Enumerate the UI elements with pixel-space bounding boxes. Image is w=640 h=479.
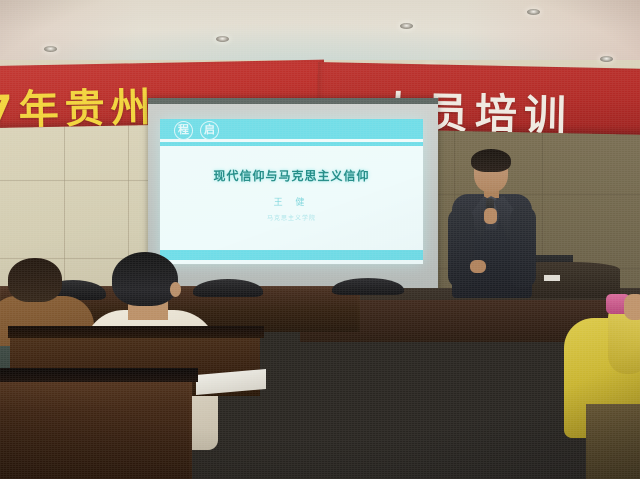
presenter-hand-lower xyxy=(470,260,486,273)
banner-text-left: 7年贵州 xyxy=(0,75,157,128)
slide-title: 现代信仰与马克思主义信仰 xyxy=(160,167,423,184)
wooden-desk-edge xyxy=(8,326,264,338)
lecture-hall-photo: 7年贵州 人员培训 程 启 现代信仰与马克思主义信仰 王 健 马克思主义学院 xyxy=(0,0,640,479)
projection-screen-rail xyxy=(148,98,438,104)
recessed-downlight xyxy=(400,23,413,29)
presenter-hair xyxy=(471,149,511,172)
wooden-desk xyxy=(0,372,192,479)
recessed-downlight xyxy=(527,9,540,15)
slide-organization: 马克思主义学院 xyxy=(160,213,423,222)
presenter-arm-right xyxy=(510,206,536,288)
slide-divider-line xyxy=(160,142,423,146)
slide-presenter-name: 王 健 xyxy=(160,195,423,208)
audience-left-hair xyxy=(8,258,62,302)
recessed-downlight xyxy=(600,56,613,62)
audience-right-hand xyxy=(624,294,640,320)
presenter-arm-left xyxy=(448,208,474,288)
presentation-slide: 程 启 现代信仰与马克思主义信仰 王 健 马克思主义学院 xyxy=(160,119,423,264)
slide-header-band: 程 启 xyxy=(160,119,423,139)
presenter-at-podium xyxy=(448,152,548,298)
wooden-desk-edge xyxy=(0,368,198,382)
presenter-hand-holding-mic xyxy=(484,208,497,224)
logo-emblem-right: 启 xyxy=(204,122,215,137)
audience-center-ear xyxy=(170,282,181,297)
recessed-downlight xyxy=(44,46,57,52)
wooden-desk xyxy=(586,404,640,479)
logo-emblem-left: 程 xyxy=(178,122,189,137)
seat-headrest xyxy=(332,278,404,295)
recessed-downlight xyxy=(216,36,229,42)
audience-center-hair xyxy=(112,252,178,306)
